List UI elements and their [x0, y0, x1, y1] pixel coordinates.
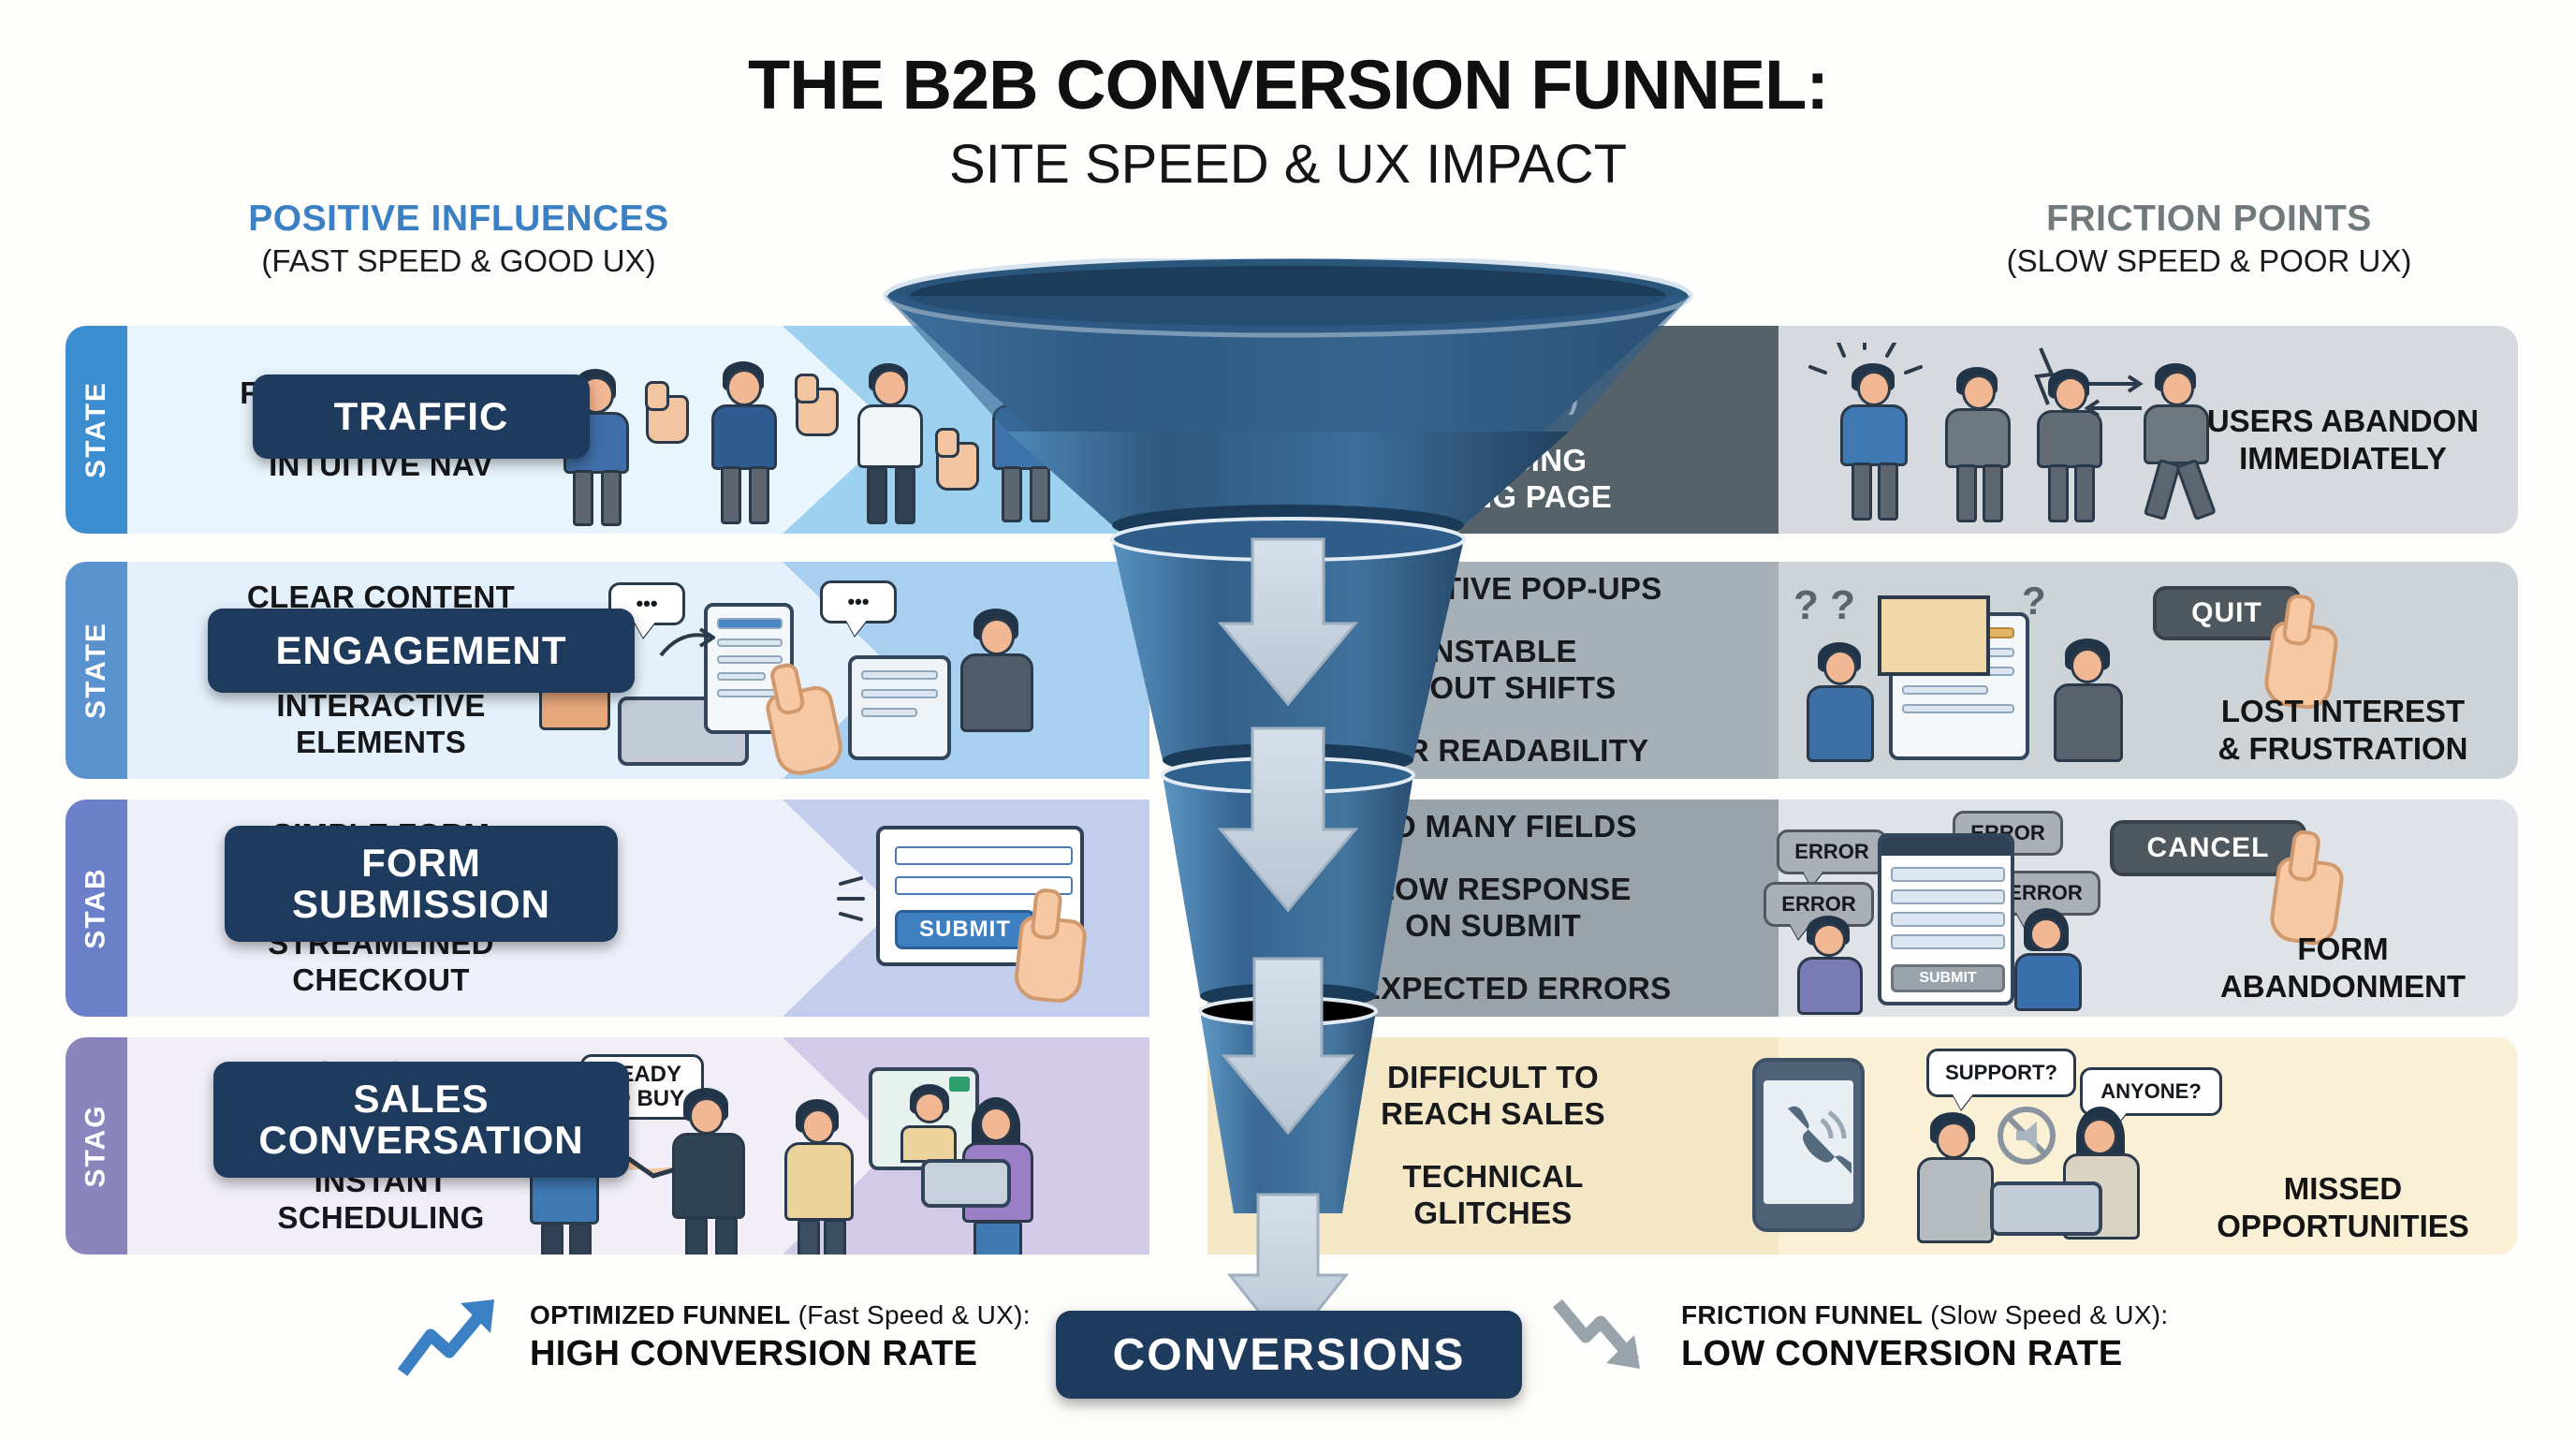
support-bubble: SUPPORT?: [1926, 1049, 2076, 1097]
arrow-icon: [659, 627, 715, 665]
page-header: THE B2B CONVERSION FUNNEL: SITE SPEED & …: [0, 0, 2576, 197]
outcome-line: IMMEDIATELY: [2239, 441, 2447, 476]
funnel-stage-form-submission[interactable]: FORM SUBMISSION: [225, 826, 618, 942]
page-title: THE B2B CONVERSION FUNNEL:: [0, 45, 2576, 125]
outcome-label-engagement: LOST INTEREST & FRUSTRATION: [2188, 693, 2497, 767]
positive-point: INTERACTIVE ELEMENTS: [198, 688, 563, 761]
funnel-stage-engagement[interactable]: ENGAGEMENT: [208, 609, 635, 693]
outcome-line: USERS ABANDON: [2207, 404, 2479, 438]
error-label: ERROR: [2008, 882, 2082, 903]
outcome-line: LOST INTEREST: [2221, 694, 2465, 728]
popup-overlay-icon: [1878, 595, 1990, 676]
error-form-window-icon: SUBMIT: [1878, 833, 2014, 1005]
friction-heading-text: FRICTION POINTS: [1919, 198, 2499, 240]
no-signal-icon: [1994, 1103, 2059, 1168]
support-bubble-label: SUPPORT?: [1945, 1062, 2057, 1083]
stage-tab-form[interactable]: STAB: [66, 800, 127, 1017]
outcome-line: ABANDONMENT: [2220, 969, 2466, 1004]
funnel-stage-sales-conversation[interactable]: SALES CONVERSATION: [213, 1062, 629, 1178]
error-label: ERROR: [1781, 893, 1855, 915]
stage-tab-label: STAG: [80, 1104, 112, 1187]
illustration-abandoning-users: [1807, 343, 2228, 526]
stage-tab-engagement[interactable]: STATE: [66, 562, 127, 779]
phone-handset-icon: [1773, 1099, 1851, 1178]
outcome-line: MISSED: [2284, 1171, 2403, 1206]
funnel-stage-label: ENGAGEMENT: [275, 630, 566, 671]
quit-button-label: QUIT: [2191, 597, 2262, 629]
funnel-stage-traffic[interactable]: TRAFFIC: [253, 374, 590, 459]
stage-tab-sales[interactable]: STAG: [66, 1037, 127, 1255]
stage-tab-traffic[interactable]: STATE: [66, 326, 127, 534]
stage-tab-label: STATE: [80, 381, 112, 478]
illustration-frustrated-engagement: ? ? ?: [1788, 573, 2200, 770]
positive-point-line: SCHEDULING: [277, 1200, 484, 1235]
funnel-outcome-conversions[interactable]: CONVERSIONS: [1056, 1311, 1522, 1399]
positive-point-line: INTERACTIVE: [276, 688, 485, 723]
funnel-stage-label: FORM: [361, 843, 481, 884]
funnel-stage-label: SUBMISSION: [292, 884, 550, 925]
legend-title: OPTIMIZED FUNNEL: [530, 1300, 791, 1329]
laptop-icon: [1990, 1181, 2102, 1236]
stage-tab-label: STATE: [80, 622, 112, 719]
outcome-label-traffic: USERS ABANDON IMMEDIATELY: [2188, 403, 2497, 477]
positive-heading-text: POSITIVE INFLUENCES: [168, 198, 749, 240]
question-marks-icon: ? ?: [1793, 582, 1855, 629]
illustration-form-errors: ERROR ERROR ERROR ERROR: [1769, 805, 2209, 1011]
outcome-line: & FRUSTRATION: [2217, 731, 2467, 766]
friction-subheading-text: (SLOW SPEED & POOR UX): [1919, 243, 2499, 279]
positive-point-line: ELEMENTS: [296, 725, 466, 759]
error-label: ERROR: [1794, 841, 1868, 862]
funnel-graphic: [867, 258, 1709, 1363]
outcome-line: FORM: [2297, 932, 2388, 966]
trend-up-arrow-icon: [393, 1294, 505, 1380]
outcome-line: OPPORTUNITIES: [2217, 1209, 2469, 1243]
positive-point-line: CHECKOUT: [292, 962, 469, 997]
disabled-submit-label: SUBMIT: [1919, 970, 1976, 987]
funnel-stage-label: TRAFFIC: [334, 396, 509, 437]
pointer-hand-icon: [763, 682, 846, 779]
legend-result: LOW CONVERSION RATE: [1681, 1334, 2169, 1374]
positive-subheading-text: (FAST SPEED & GOOD UX): [168, 243, 749, 279]
funnel-stage-label: CONVERSATION: [258, 1120, 583, 1161]
legend-subtitle: (Slow Speed & UX):: [1923, 1300, 2168, 1329]
error-bubble: ERROR: [1777, 829, 1887, 874]
page-subtitle: SITE SPEED & UX IMPACT: [0, 133, 2576, 196]
positive-column-heading: POSITIVE INFLUENCES (FAST SPEED & GOOD U…: [168, 198, 749, 279]
legend-title: FRICTION FUNNEL: [1681, 1300, 1923, 1329]
anyone-bubble-label: ANYONE?: [2100, 1080, 2202, 1102]
funnel-stage-label: SALES: [353, 1078, 489, 1120]
outcome-label-sales: MISSED OPPORTUNITIES: [2188, 1170, 2497, 1244]
funnel-outcome-label: CONVERSIONS: [1113, 1329, 1466, 1381]
outcome-label-form: FORM ABANDONMENT: [2188, 931, 2497, 1005]
stage-tab-label: STAB: [80, 867, 112, 948]
friction-column-heading: FRICTION POINTS (SLOW SPEED & POOR UX): [1919, 198, 2499, 279]
